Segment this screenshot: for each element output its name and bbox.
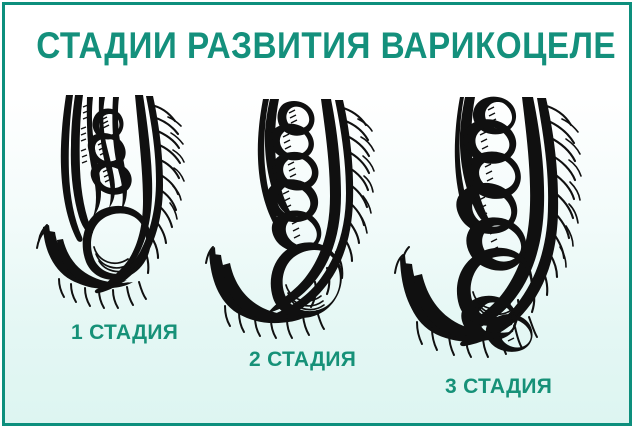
varicocele-stage-3-illustration: [403, 95, 593, 365]
stage-3-caption: 3 СТАДИЯ: [445, 375, 552, 399]
varicocele-stage-2-illustration: [213, 97, 385, 341]
page-title: СТАДИИ РАЗВИТИЯ ВАРИКОЦЕЛЕ: [36, 26, 598, 66]
poster-container: СТАДИИ РАЗВИТИЯ ВАРИКОЦЕЛЕ: [2, 2, 632, 426]
varicocele-stage-1-illustration: [35, 93, 195, 315]
stage-2-caption: 2 СТАДИЯ: [249, 348, 356, 372]
stage-1-caption: 1 СТАДИЯ: [71, 321, 178, 345]
